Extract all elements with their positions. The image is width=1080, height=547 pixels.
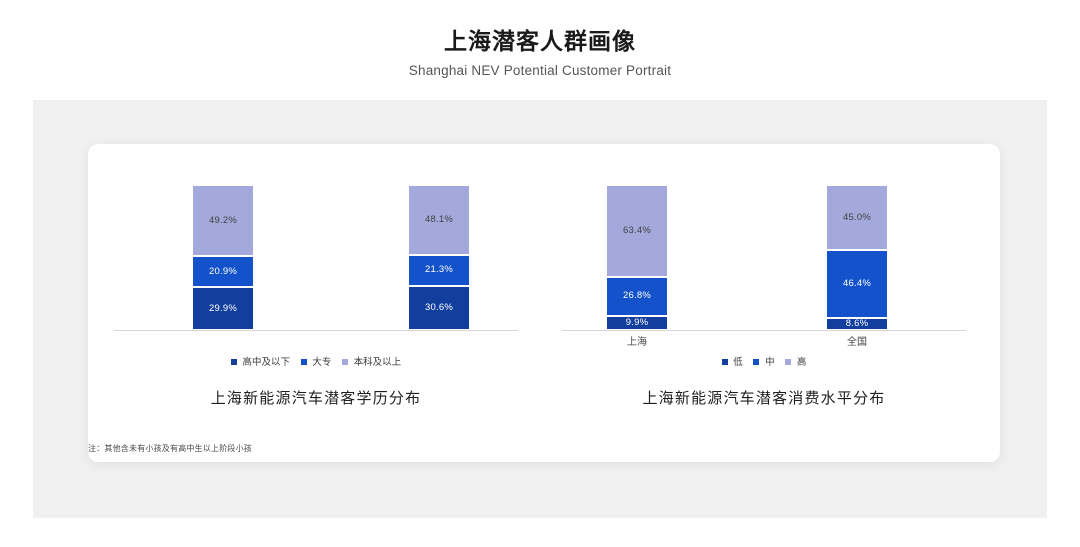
page-header: 上海潜客人群画像 Shanghai NEV Potential Customer… <box>0 0 1080 80</box>
page-title: 上海潜客人群画像 <box>0 0 1080 56</box>
chart-consumption-caption: 上海新能源汽车潜客消费水平分布 <box>544 388 984 410</box>
bar-segment-high[interactable]: 48.1% <box>408 185 470 255</box>
charts-row: 49.2% 20.9% 29.9% 48.1% 21.3% 30.6% 高中及以… <box>88 144 1000 462</box>
chart-consumption-plot: 63.4% 26.8% 9.9% 45.0% 46.4% 8.6% <box>544 144 984 334</box>
page-subtitle: Shanghai NEV Potential Customer Portrait <box>0 56 1080 80</box>
bar-segment-low[interactable]: 30.6% <box>408 286 470 330</box>
legend-item-mid[interactable]: 中 <box>753 356 774 371</box>
legend-item-low[interactable]: 高中及以下 <box>231 356 290 371</box>
legend-label: 低 <box>733 357 743 368</box>
chart-education-plot: 49.2% 20.9% 29.9% 48.1% 21.3% 30.6% <box>96 144 536 334</box>
legend-label: 高 <box>797 357 807 368</box>
legend-item-high[interactable]: 本科及以上 <box>342 356 401 371</box>
legend-item-low[interactable]: 低 <box>722 356 743 371</box>
legend-swatch-icon <box>342 359 348 365</box>
footnote: 注：其他含未有小孩及有高中生以上阶段小孩 <box>88 443 252 455</box>
stacked-bar[interactable]: 49.2% 20.9% 29.9% <box>192 185 254 330</box>
legend-swatch-icon <box>753 359 759 365</box>
chart-consumption-tick-labels: 上海 全国 <box>544 336 984 352</box>
legend-item-high[interactable]: 高 <box>785 356 806 371</box>
bar-segment-high[interactable]: 45.0% <box>826 185 888 250</box>
legend-swatch-icon <box>231 359 237 365</box>
bar-segment-high[interactable]: 49.2% <box>192 185 254 256</box>
legend-label: 大专 <box>312 357 331 368</box>
stacked-bar[interactable]: 45.0% 46.4% 8.6% <box>826 185 888 330</box>
legend-swatch-icon <box>785 359 791 365</box>
chart-consumption: 63.4% 26.8% 9.9% 45.0% 46.4% 8.6% 上海 全国 … <box>544 144 984 462</box>
x-tick-label: 上海 <box>606 336 668 350</box>
legend-swatch-icon <box>301 359 307 365</box>
stacked-bar[interactable]: 63.4% 26.8% 9.9% <box>606 185 668 330</box>
chart-education-legend: 高中及以下 大专 本科及以上 <box>96 356 536 371</box>
legend-item-mid[interactable]: 大专 <box>301 356 332 371</box>
bar-segment-high[interactable]: 63.4% <box>606 185 668 277</box>
stacked-bar[interactable]: 48.1% 21.3% 30.6% <box>408 185 470 330</box>
bar-segment-mid[interactable]: 21.3% <box>408 255 470 286</box>
legend-label: 中 <box>765 357 775 368</box>
bar-segment-low[interactable]: 9.9% <box>606 316 668 330</box>
chart-education-caption: 上海新能源汽车潜客学历分布 <box>96 388 536 410</box>
bar-segment-mid[interactable]: 46.4% <box>826 250 888 317</box>
x-axis-line <box>114 330 518 331</box>
bar-segment-low[interactable]: 29.9% <box>192 287 254 330</box>
x-axis-line <box>562 330 966 331</box>
bar-segment-low[interactable]: 8.6% <box>826 318 888 330</box>
chart-education: 49.2% 20.9% 29.9% 48.1% 21.3% 30.6% 高中及以… <box>96 144 536 462</box>
bar-segment-mid[interactable]: 26.8% <box>606 277 668 316</box>
legend-label: 本科及以上 <box>354 357 402 368</box>
legend-label: 高中及以下 <box>243 357 291 368</box>
bar-segment-mid[interactable]: 20.9% <box>192 256 254 286</box>
chart-consumption-legend: 低 中 高 <box>544 356 984 371</box>
legend-swatch-icon <box>722 359 728 365</box>
x-tick-label: 全国 <box>826 336 888 350</box>
